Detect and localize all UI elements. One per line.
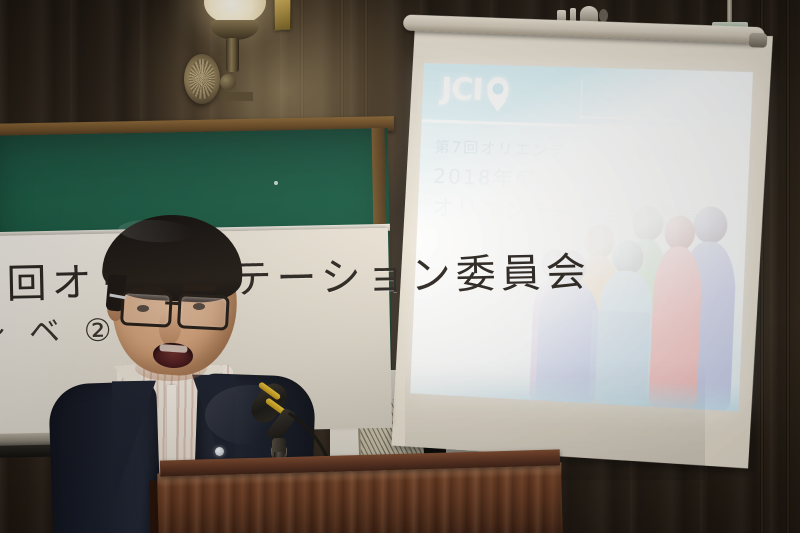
lamp-knob [220, 74, 236, 90]
photograph: JCI 第7回オリエンテーション委員会 2018年度 オリエンテーション委員会 … [0, 0, 800, 533]
projected-slide: JCI 第7回オリエンテーション委員会 2018年度 オリエンテーション委員会 … [410, 63, 753, 411]
wall-batten [786, 0, 790, 533]
slide-body-line: 2018年度 [433, 160, 538, 193]
jci-logo: JCI [440, 72, 509, 109]
chalk-mark [274, 181, 278, 185]
lamp-wall-rosette [184, 54, 220, 104]
projector-screen: JCI 第7回オリエンテーション委員会 2018年度 オリエンテーション委員会 … [405, 17, 770, 448]
eyeglasses [120, 290, 231, 326]
location-pin-icon [487, 77, 509, 105]
screen-roller-cap [749, 33, 768, 48]
wall-sconce [180, 0, 290, 108]
eyebrow-right [183, 284, 216, 291]
lens-left [120, 290, 173, 328]
lens-right [177, 293, 230, 331]
lapel-pin [215, 447, 224, 456]
jci-logo-text: JCI [440, 72, 483, 108]
lamp-cup [211, 20, 259, 40]
